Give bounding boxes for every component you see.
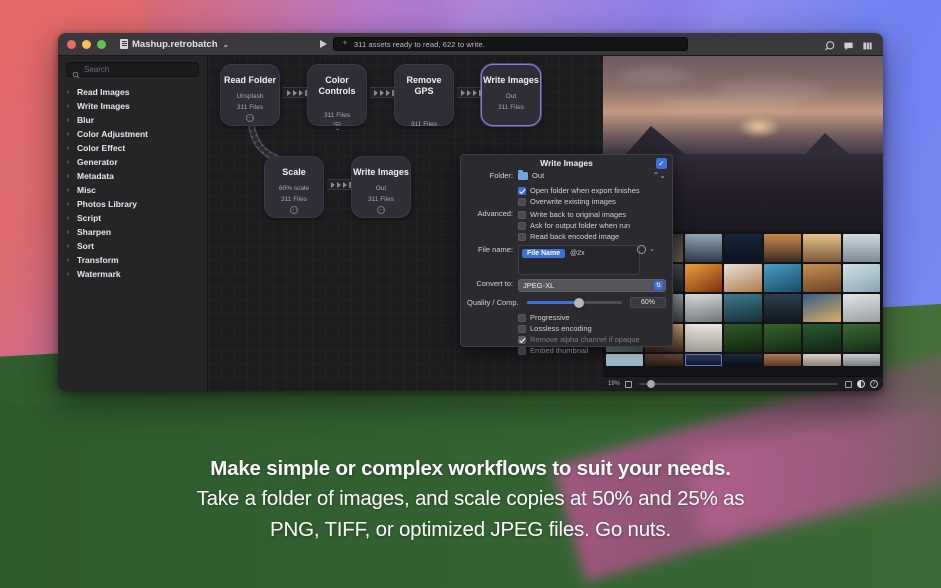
folder-row: Folder: Out ⌃⌄ <box>461 171 666 181</box>
sidebar-item-transform[interactable]: › Transform <box>58 253 207 267</box>
arrow-icon <box>299 90 303 96</box>
sidebar-item-label: Misc <box>77 185 96 195</box>
arrow-icon <box>380 90 384 96</box>
node-subtitle: Out <box>376 185 386 192</box>
quality-slider-knob[interactable] <box>574 298 584 308</box>
node-subtitle: Out <box>506 93 516 100</box>
checkbox-label: Overwrite existing images <box>530 197 616 206</box>
sidebar-item-color-adjustment[interactable]: › Color Adjustment <box>58 127 207 141</box>
quality-label: Quality / Comp. <box>467 298 527 308</box>
thumbnail[interactable] <box>803 354 840 366</box>
node-count: 311 Files <box>237 104 263 111</box>
toolbar-right <box>824 39 873 50</box>
sidebar-item-label: Color Effect <box>77 143 125 153</box>
sidebar-item-script[interactable]: › Script <box>58 211 207 225</box>
thumbnail[interactable] <box>764 354 801 366</box>
arrow-icon <box>287 90 291 96</box>
checkbox-overwrite[interactable]: Overwrite existing images <box>518 196 666 207</box>
sidebar-item-label: Write Images <box>77 101 130 111</box>
sidebar-item-label: Color Adjustment <box>77 129 148 139</box>
caption-line-3: PNG, TIFF, or optimized JPEG files. Go n… <box>0 514 941 545</box>
checkbox-remove-alpha: Remove alpha channel if opaque <box>518 334 666 345</box>
thumbnail[interactable] <box>803 324 840 352</box>
sidebar-item-sort[interactable]: › Sort <box>58 239 207 253</box>
checkbox-icon[interactable] <box>518 325 526 333</box>
grid-plus-icon[interactable] <box>845 381 852 388</box>
checkbox-label: Progressive <box>530 313 570 322</box>
chevron-right-icon: › <box>67 117 72 124</box>
sparkle-icon: ✦ <box>342 40 350 48</box>
maximize-button[interactable] <box>97 40 106 49</box>
quality-slider[interactable] <box>527 301 622 304</box>
node-status-icon <box>290 206 298 214</box>
chevron-right-icon: › <box>67 243 72 250</box>
chevron-right-icon: › <box>67 159 72 166</box>
grid-minus-icon[interactable] <box>625 381 632 388</box>
sidebar-item-label: Transform <box>77 255 119 265</box>
inspector-header: Write Images ✓ <box>461 155 672 171</box>
node-status-icon <box>246 114 254 122</box>
node-subtitle: Unsplash <box>236 93 263 100</box>
sidebar-item-label: Read Images <box>77 87 129 97</box>
node-read-folder[interactable]: Read Folder Unsplash 311 Files <box>220 64 280 126</box>
checkbox-icon[interactable] <box>518 211 526 219</box>
info-icon[interactable]: i <box>870 380 878 388</box>
advanced-field: Write back to original images Ask for ou… <box>518 209 666 242</box>
thumbnail[interactable] <box>803 234 840 262</box>
thumbnail[interactable] <box>843 234 880 262</box>
arrow-icon <box>343 182 347 188</box>
node-title: Write Images <box>483 75 539 86</box>
thumbnail[interactable] <box>843 354 880 366</box>
chevron-updown-icon[interactable]: ⇅ <box>654 281 663 290</box>
chevron-right-icon: › <box>67 89 72 96</box>
node-count: 311 Files <box>368 196 394 203</box>
convert-to-value: JPEG-XL <box>523 281 554 290</box>
sidebar-item-sharpen[interactable]: › Sharpen <box>58 225 207 239</box>
node-remove-gps[interactable]: Remove GPS 311 Files <box>394 64 454 126</box>
write-images-inspector[interactable]: Write Images ✓ Folder: Out ⌃⌄ <box>460 154 673 347</box>
zoom-icon[interactable] <box>824 39 835 50</box>
chevron-right-icon: › <box>67 103 72 110</box>
thumbnail[interactable] <box>764 324 801 352</box>
zoom-percent-label: 19% <box>608 381 620 387</box>
arrow-icon <box>374 90 378 96</box>
comment-icon[interactable] <box>843 39 854 50</box>
traffic-lights <box>67 40 106 49</box>
filename-field[interactable]: File Name @2x <box>518 245 640 275</box>
zoom-slider-knob[interactable] <box>647 380 655 388</box>
arrow-icon <box>467 90 471 96</box>
thumbnail[interactable] <box>724 234 761 262</box>
checkbox-icon <box>518 336 526 344</box>
node-count: 311 Files <box>324 112 350 119</box>
checkbox-icon[interactable] <box>518 222 526 230</box>
search-input[interactable]: Search <box>66 62 199 77</box>
sidebar-item-label: Metadata <box>77 171 114 181</box>
folder-label: Folder: <box>461 171 518 181</box>
checkbox-icon[interactable] <box>518 198 526 206</box>
filename-token[interactable]: File Name <box>522 249 565 258</box>
arrow-icon <box>461 90 465 96</box>
convert-to-select[interactable]: JPEG-XL ⇅ <box>518 279 666 292</box>
folder-value: Out <box>532 171 544 180</box>
app-window: Mashup.retrobatch ⌄ ✦ 311 assets ready t… <box>58 33 883 391</box>
filename-input[interactable]: File Name @2x <box>518 245 640 275</box>
thumbnail[interactable] <box>803 294 840 322</box>
sidebar-item-label: Generator <box>77 157 118 167</box>
chevron-right-icon: › <box>67 201 72 208</box>
inspector-title: Write Images <box>540 158 593 168</box>
node-status-icon <box>377 206 385 214</box>
convert-row: Convert to: JPEG-XL ⇅ <box>461 279 666 292</box>
node-title: Scale <box>282 167 306 178</box>
checkbox-label: Write back to original images <box>530 210 626 219</box>
search-icon <box>72 66 80 74</box>
thumbnail[interactable] <box>685 324 722 352</box>
cloud-shape <box>659 98 799 112</box>
promo-screenshot: Mashup.retrobatch ⌄ ✦ 311 assets ready t… <box>0 0 941 588</box>
checkbox-icon[interactable] <box>518 187 526 195</box>
status-text: 311 assets ready to read, 622 to write. <box>354 40 485 49</box>
folder-field[interactable]: Out ⌃⌄ <box>518 171 666 180</box>
thumbnail[interactable] <box>843 264 880 292</box>
thumbnail[interactable] <box>724 294 761 322</box>
filename-row: File name: File Name @2x ⌄ <box>461 245 666 275</box>
thumbnail[interactable] <box>685 234 722 262</box>
browser-status-bar: 19% i <box>603 376 883 391</box>
minimize-button[interactable] <box>82 40 91 49</box>
chevron-down-icon[interactable]: ⌄ <box>223 40 230 49</box>
arrow-icon <box>473 90 477 96</box>
node-subtitle: 60% scale <box>279 185 309 192</box>
cloud-shape <box>715 81 825 99</box>
checkbox-label: Lossless encoding <box>530 324 592 333</box>
contrast-icon[interactable] <box>857 380 865 388</box>
checkbox-label: Embed thumbnail <box>530 346 588 355</box>
node-title: Write Images <box>353 167 409 178</box>
chevron-right-icon: › <box>67 257 72 264</box>
sidebar-item-watermark[interactable]: › Watermark <box>58 267 207 281</box>
chevron-right-icon: › <box>67 215 72 222</box>
thumbnail[interactable] <box>764 294 801 322</box>
chevron-right-icon: › <box>67 131 72 138</box>
quality-slider-fill <box>527 301 579 304</box>
checkbox-label: Open folder when export finishes <box>530 186 640 195</box>
checkbox-embed-thumbnail: Embed thumbnail <box>518 345 666 356</box>
node-title: Color Controls <box>309 75 365 96</box>
node-write-images-2[interactable]: Write Images Out 311 Files <box>351 156 411 218</box>
arrow-icon <box>331 182 335 188</box>
checkbox-label: Remove alpha channel if opaque <box>530 335 640 344</box>
open-folder-row: Open folder when export finishes Overwri… <box>461 185 666 207</box>
convert-field[interactable]: JPEG-XL ⇅ <box>518 279 666 292</box>
checkbox-icon <box>518 347 526 355</box>
chevron-down-icon[interactable]: ⌄ <box>649 245 655 253</box>
sidebar-item-label: Script <box>77 213 101 223</box>
thumbnail[interactable] <box>843 294 880 322</box>
sidebar-item-write-images[interactable]: › Write Images <box>58 99 207 113</box>
sidebar-item-misc[interactable]: › Misc <box>58 183 207 197</box>
thumbnail[interactable] <box>685 264 722 292</box>
node-count: 311 Files <box>281 196 307 203</box>
sidebar-item-color-effect[interactable]: › Color Effect <box>58 141 207 155</box>
window-titlebar: Mashup.retrobatch ⌄ ✦ 311 assets ready t… <box>58 33 883 56</box>
convert-label: Convert to: <box>461 279 518 289</box>
quality-slider-wrap[interactable]: 60% <box>527 297 666 308</box>
search-placeholder: Search <box>84 65 109 74</box>
caption-line-2: Take a folder of images, and scale copie… <box>0 483 941 514</box>
node-color-controls[interactable]: Color Controls 311 Files <box>307 64 367 126</box>
thumbnail[interactable] <box>685 294 722 322</box>
filename-suffix: @2x <box>570 250 585 257</box>
open-folder-field: Open folder when export finishes Overwri… <box>518 185 666 207</box>
arrow-icon <box>293 90 297 96</box>
quality-row: Quality / Comp. 60% <box>461 297 666 308</box>
checkbox-progressive[interactable]: Progressive <box>518 312 666 323</box>
cloud-shape <box>620 67 690 83</box>
thumbnail[interactable] <box>803 264 840 292</box>
advanced-label: Advanced: <box>461 209 518 219</box>
quality-value[interactable]: 60% <box>630 297 666 308</box>
sidebar: Search › Read Images › Write Images › Bl… <box>58 56 208 391</box>
node-title: Remove GPS <box>396 75 452 96</box>
chevron-right-icon: › <box>67 187 72 194</box>
document-icon <box>120 39 128 49</box>
thumbnail[interactable] <box>724 324 761 352</box>
node-title: Read Folder <box>224 75 276 86</box>
node-scale[interactable]: Scale 60% scale 311 Files <box>264 156 324 218</box>
checkbox-write-back[interactable]: Write back to original images <box>518 209 666 220</box>
node-write-images-1[interactable]: Write Images Out 311 Files <box>481 64 541 126</box>
checkbox-label: Read back encoded image <box>530 232 619 241</box>
arrow-icon <box>386 90 390 96</box>
chevron-right-icon: › <box>67 145 72 152</box>
checkbox-label: Ask for output folder when run <box>530 221 630 230</box>
folder-icon <box>518 172 528 180</box>
thumbnail[interactable] <box>764 234 801 262</box>
run-workflow-button[interactable] <box>320 40 327 48</box>
node-count: 311 Files <box>498 104 524 111</box>
caption-headline: Make simple or complex workflows to suit… <box>0 455 941 483</box>
sidebar-item-metadata[interactable]: › Metadata <box>58 169 207 183</box>
filename-label: File name: <box>461 245 518 255</box>
promo-caption: Make simple or complex workflows to suit… <box>0 455 941 545</box>
sun-glow <box>737 116 781 138</box>
sidebar-item-blur[interactable]: › Blur <box>58 113 207 127</box>
browser-bar-right: i <box>845 380 878 388</box>
thumbnail[interactable] <box>724 354 761 366</box>
encoding-options-row: Progressive Lossless encoding Remove alp… <box>461 312 666 356</box>
sidebar-item-label: Photos Library <box>77 199 137 209</box>
sidebar-item-label: Sort <box>77 241 94 251</box>
document-title: Mashup.retrobatch <box>132 39 218 50</box>
thumbnail-selected[interactable] <box>685 354 722 366</box>
sidebar-item-label: Watermark <box>77 269 121 279</box>
checkbox-icon[interactable] <box>518 233 526 241</box>
sidebar-item-photos-library[interactable]: › Photos Library <box>58 197 207 211</box>
checkbox-lossless[interactable]: Lossless encoding <box>518 323 666 334</box>
status-bar: ✦ 311 assets ready to read, 622 to write… <box>333 37 688 51</box>
gear-icon[interactable] <box>637 245 646 254</box>
checkbox-open-folder[interactable]: Open folder when export finishes <box>518 185 666 196</box>
node-count: 311 Files <box>411 121 437 128</box>
thumbnail[interactable] <box>724 264 761 292</box>
encoding-options-field: Progressive Lossless encoding Remove alp… <box>518 312 666 356</box>
chevron-right-icon: › <box>67 173 72 180</box>
advanced-row: Advanced: Write back to original images … <box>461 209 666 242</box>
checkbox-read-back[interactable]: Read back encoded image <box>518 231 666 242</box>
library-icon[interactable] <box>862 39 873 50</box>
sidebar-item-label: Sharpen <box>77 227 111 237</box>
sidebar-item-label: Blur <box>77 115 94 125</box>
node-status-icon <box>333 122 341 125</box>
sidebar-item-read-images[interactable]: › Read Images <box>58 85 207 99</box>
checkbox-icon[interactable] <box>518 314 526 322</box>
document-title-group[interactable]: Mashup.retrobatch ⌄ <box>120 39 229 50</box>
zoom-slider[interactable] <box>639 383 838 385</box>
chevron-right-icon: › <box>67 271 72 278</box>
sidebar-item-generator[interactable]: › Generator <box>58 155 207 169</box>
close-button[interactable] <box>67 40 76 49</box>
stepper-icon[interactable]: ⌃⌄ <box>653 172 666 180</box>
chevron-right-icon: › <box>67 229 72 236</box>
thumbnail[interactable] <box>843 324 880 352</box>
thumbnail[interactable] <box>764 264 801 292</box>
arrow-icon <box>337 182 341 188</box>
inspector-enable-checkbox[interactable]: ✓ <box>656 158 667 169</box>
checkbox-ask-folder[interactable]: Ask for output folder when run <box>518 220 666 231</box>
